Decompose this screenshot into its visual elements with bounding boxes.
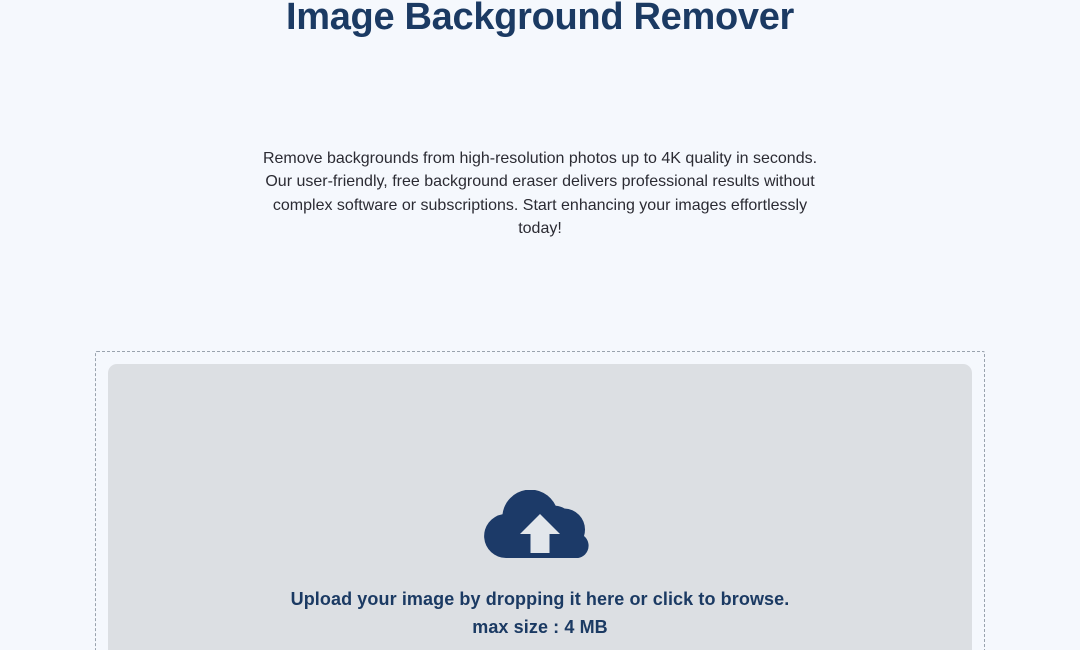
image-upload-dropzone[interactable]: Upload your image by dropping it here or…: [95, 351, 985, 650]
dropzone-inner-surface[interactable]: Upload your image by dropping it here or…: [108, 364, 972, 650]
page-root: Transform Your Visuals with our Image Ba…: [0, 0, 1080, 650]
hero-section: Transform Your Visuals with our Image Ba…: [0, 0, 1080, 38]
hero-subtitle: Remove backgrounds from high-resolution …: [0, 147, 1080, 241]
upload-instructions: Upload your image by dropping it here or…: [108, 586, 972, 642]
page-title: Transform Your Visuals with our Image Ba…: [0, 0, 1080, 38]
upload-prompt-text: Upload your image by dropping it here or…: [108, 586, 972, 614]
upload-max-size-text: max size : 4 MB: [108, 614, 972, 642]
cloud-upload-icon: [484, 490, 596, 558]
cloud-upload-icon-wrap: [108, 490, 972, 558]
